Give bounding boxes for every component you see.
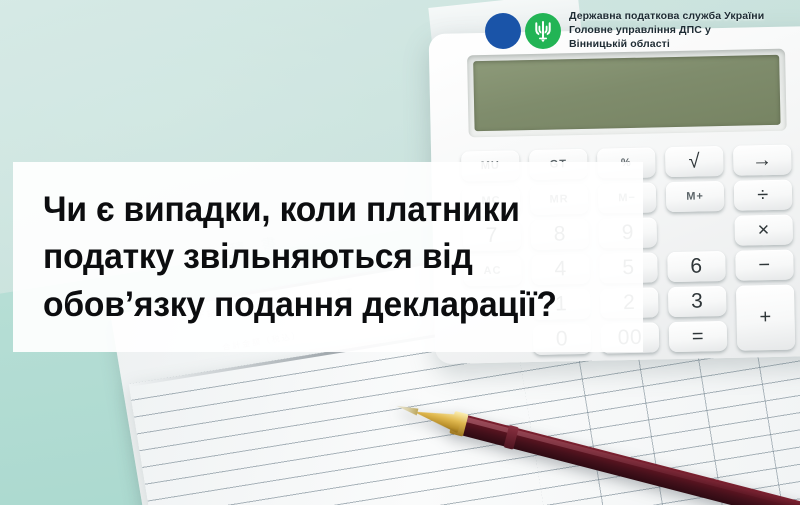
- calculator-key-minus[interactable]: −: [735, 250, 794, 281]
- calculator-key-divide[interactable]: ÷: [734, 180, 793, 211]
- agency-name-text: Державна податкова служба України Головн…: [569, 10, 764, 52]
- banner-stage: 見 積 書 下記の通り、お見積り申し上げます 合計金額（税込） MUGT%√→M…: [0, 0, 800, 505]
- calculator-key-equals[interactable]: =: [669, 321, 728, 352]
- calculator-display-bezel: [467, 49, 787, 138]
- logo-mark: [485, 13, 561, 49]
- calculator-display: [473, 55, 780, 131]
- pen-cone: [411, 403, 462, 433]
- calculator-key-plus[interactable]: +: [736, 285, 795, 351]
- agency-logo-lockup: Державна податкова служба України Головн…: [485, 10, 764, 52]
- blue-circle-icon: [485, 13, 521, 49]
- ukrainian-trident-icon: [533, 19, 553, 43]
- calculator-key-3[interactable]: 3: [668, 286, 727, 317]
- headline-line-2: податку звільняються від: [43, 233, 619, 281]
- headline-overlay: Чи є випадки, коли платники податку звіл…: [13, 162, 643, 352]
- headline-line-1: Чи є випадки, коли платники: [43, 186, 619, 234]
- calculator-key-6[interactable]: 6: [667, 251, 726, 282]
- agency-name-line1: Державна податкова служба України: [569, 10, 764, 24]
- calculator-key-sqrt[interactable]: √: [665, 146, 724, 177]
- calculator-key-mplus[interactable]: M+: [666, 181, 725, 212]
- calculator-key-arrow[interactable]: →: [733, 145, 792, 176]
- pen-tip: [395, 403, 418, 415]
- agency-name-line2: Головне управління ДПС у: [569, 24, 764, 38]
- headline-line-3: обов’язку подання декларації?: [43, 281, 619, 329]
- green-circle-icon: [525, 13, 561, 49]
- calculator-key-multiply[interactable]: ×: [734, 215, 793, 246]
- agency-name-line3: Вінницькій області: [569, 38, 764, 52]
